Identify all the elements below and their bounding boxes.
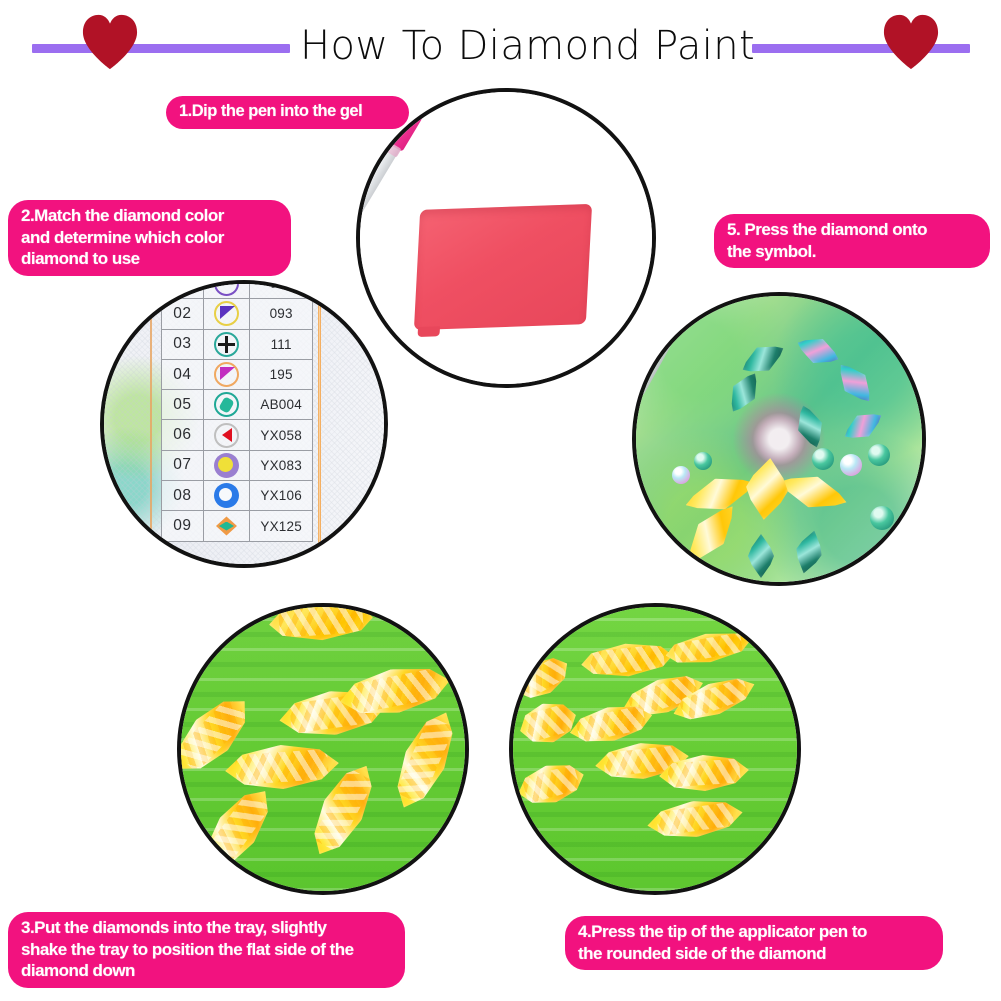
round-gem <box>868 444 890 466</box>
triangle-wedge-icon <box>214 362 239 387</box>
chart-code: AB004 <box>250 390 313 420</box>
filled-dot-icon <box>214 453 239 478</box>
chart-number: 04 <box>162 359 204 389</box>
chart-symbol-cell <box>203 280 250 299</box>
table-row: 09 YX125 <box>162 511 313 541</box>
step-5-label: 5. Press the diamond onto the symbol. <box>714 214 990 268</box>
photo-diamond-color-chart: 020 02 093 03 <box>100 280 388 568</box>
photo-pen-picking-up-diamond <box>509 603 801 895</box>
step-2-label: 2.Match the diamond color and determine … <box>8 200 291 276</box>
chart-code: YX083 <box>250 450 313 480</box>
step-3-label: 3.Put the diamonds into the tray, slight… <box>8 912 405 988</box>
heart-icon <box>79 13 141 71</box>
table-row: 05 AB004 <box>162 390 313 420</box>
photo-background <box>636 296 922 582</box>
chart-edge-line-right <box>318 284 321 564</box>
table-row: 04 195 <box>162 359 313 389</box>
round-gem <box>672 466 690 484</box>
chart-edge-line-left <box>150 284 152 564</box>
chart-symbol-cell <box>203 390 250 420</box>
gel-pad <box>414 204 592 330</box>
chart-symbol-cell <box>203 481 250 511</box>
chart-code: 111 <box>250 329 313 359</box>
round-gem <box>840 454 862 476</box>
chart-code: YX125 <box>250 511 313 541</box>
ring-icon <box>214 483 239 508</box>
chart-number: 05 <box>162 390 204 420</box>
chart-symbol-cell <box>203 359 250 389</box>
chart-number: 09 <box>162 511 204 541</box>
double-dot-circle-icon <box>214 280 239 296</box>
chart-symbol-cell <box>203 329 250 359</box>
photo-diamonds-in-tray <box>177 603 469 895</box>
chart-code: YX106 <box>250 481 313 511</box>
chart-symbol-cell <box>203 450 250 480</box>
chart-number: 03 <box>162 329 204 359</box>
chart-code: YX058 <box>250 420 313 450</box>
header: How To Diamond Paint <box>0 0 1001 86</box>
chart-code: 020 <box>250 280 313 299</box>
table-row: 06 YX058 <box>162 420 313 450</box>
heart-icon <box>880 13 942 71</box>
header-rule-left <box>32 44 290 53</box>
chart-code: 093 <box>250 299 313 329</box>
diagonal-bar-icon <box>214 392 239 417</box>
chart-symbol-cell <box>203 420 250 450</box>
chart-number: 06 <box>162 420 204 450</box>
leaf-icon <box>214 514 239 539</box>
table-row: 07 YX083 <box>162 450 313 480</box>
round-gem <box>812 448 834 470</box>
infographic-page: How To Diamond Paint 1.Dip the pen into … <box>0 0 1001 1001</box>
chart-code: 195 <box>250 359 313 389</box>
chart-number: 08 <box>162 481 204 511</box>
plus-circle-icon <box>214 332 239 357</box>
round-gem <box>870 506 894 530</box>
chart-number: 02 <box>162 299 204 329</box>
table-row: 03 111 <box>162 329 313 359</box>
round-gem <box>694 452 712 470</box>
quarter-triangle-icon <box>214 301 239 326</box>
page-title: How To Diamond Paint <box>300 20 750 72</box>
chart-symbol-cell <box>203 299 250 329</box>
left-arrow-icon <box>214 423 239 448</box>
color-chart-table: 020 02 093 03 <box>161 280 313 542</box>
table-row: 02 093 <box>162 299 313 329</box>
photo-pen-dipping-into-gel <box>356 88 656 388</box>
photo-placing-diamond-on-canvas <box>632 292 926 586</box>
table-row: 08 YX106 <box>162 481 313 511</box>
step-4-label: 4.Press the tip of the applicator pen to… <box>565 916 943 970</box>
chart-number: 07 <box>162 450 204 480</box>
chart-number <box>162 280 204 299</box>
chart-symbol-cell <box>203 511 250 541</box>
table-row: 020 <box>162 280 313 299</box>
